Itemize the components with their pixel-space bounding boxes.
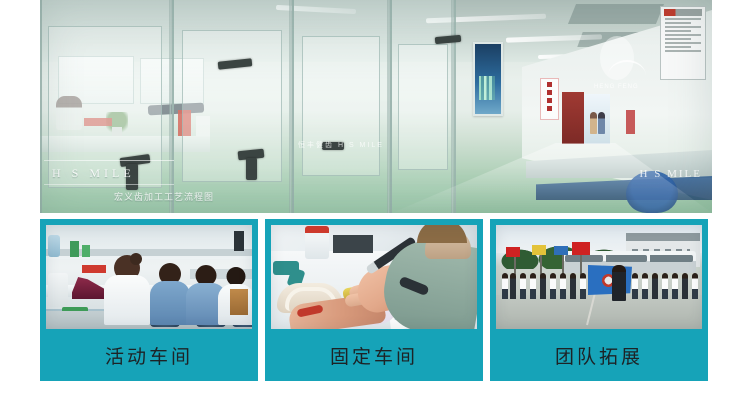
notice-line — [665, 34, 701, 36]
green-container — [82, 245, 90, 257]
participant — [652, 273, 658, 299]
green-container — [70, 241, 79, 257]
participant — [520, 273, 526, 299]
notice-line — [665, 38, 691, 40]
far-doorway-light — [584, 94, 610, 144]
fixed-workshop-photo — [271, 225, 477, 329]
ceiling-vent — [568, 4, 664, 24]
card-caption: 活动车间 — [46, 329, 252, 381]
technician-hair — [417, 225, 467, 243]
participant — [692, 273, 698, 299]
red-wall-banner — [540, 78, 559, 120]
participant — [682, 273, 688, 299]
lab-appliance — [48, 273, 68, 307]
participant — [662, 273, 668, 299]
brand-logo-text: HENG FENG — [594, 84, 639, 90]
workshop-card-row: 活动车间 — [40, 219, 708, 381]
fire-extinguisher — [626, 110, 635, 134]
participant — [560, 273, 566, 299]
glass-door — [182, 30, 282, 182]
glass-process-chart-text: 宏义齿加工工艺流程图 — [114, 190, 214, 203]
glass-door — [398, 44, 448, 170]
glass-mullion — [451, 0, 454, 213]
participant — [642, 273, 648, 299]
blue-flag — [554, 246, 568, 255]
technician — [104, 255, 150, 325]
glass-mullion — [169, 0, 172, 213]
jar-lid — [305, 226, 329, 233]
notice-board — [660, 6, 706, 80]
water-bottle — [48, 235, 60, 257]
notice-line — [665, 42, 701, 44]
red-flag — [506, 247, 520, 257]
far-door — [562, 92, 584, 144]
participant — [570, 273, 576, 299]
glass-mullion — [387, 0, 390, 213]
card-caption: 固定车间 — [271, 329, 477, 381]
notice-line — [665, 50, 701, 52]
glass-door — [48, 26, 162, 188]
card-team-building[interactable]: 团队拓展 — [490, 219, 708, 381]
ground — [496, 295, 702, 329]
card-caption: 团队拓展 — [496, 329, 702, 381]
wall-artwork — [473, 42, 503, 116]
hero-banner: HENG FENG H S MILE — [40, 0, 712, 213]
monitor — [234, 231, 244, 251]
participant — [550, 273, 556, 299]
participant — [632, 273, 638, 299]
technician — [150, 263, 190, 325]
activity-workshop-photo — [46, 225, 252, 329]
distant-person — [598, 112, 605, 134]
dental-articulator — [72, 277, 106, 299]
glass-logo-left: H S MILE — [52, 166, 135, 181]
glass-band-text: 恒丰健齿 H S MILE — [298, 140, 384, 150]
dark-tray — [333, 235, 373, 253]
notice-header — [664, 9, 702, 16]
participant — [502, 273, 508, 299]
notice-line — [665, 46, 691, 48]
yellow-flag — [532, 245, 546, 255]
participant — [672, 273, 678, 299]
red-label — [82, 265, 106, 273]
participant — [510, 273, 516, 299]
frosted-rule — [44, 160, 174, 161]
powder-jar — [305, 229, 329, 259]
notice-line — [665, 26, 701, 28]
product-detail-page: HENG FENG H S MILE — [0, 0, 750, 401]
team-building-photo — [496, 225, 702, 329]
card-fixed-workshop[interactable]: 固定车间 — [265, 219, 483, 381]
red-flag — [572, 242, 590, 255]
door-lock — [246, 158, 257, 180]
flag-bearer — [612, 265, 626, 301]
participant — [530, 273, 536, 299]
cardboard-box — [230, 289, 248, 315]
notice-line — [665, 18, 701, 20]
facility-corridor-photo: HENG FENG H S MILE — [40, 0, 712, 213]
participant — [580, 273, 586, 299]
card-activity-workshop[interactable]: 活动车间 — [40, 219, 258, 381]
glass-mullion — [289, 0, 292, 213]
frosted-rule — [44, 184, 174, 185]
participant — [540, 273, 546, 299]
glass-door — [302, 36, 380, 176]
notice-line — [665, 30, 691, 32]
notice-line — [665, 22, 691, 24]
distant-person — [590, 112, 597, 134]
